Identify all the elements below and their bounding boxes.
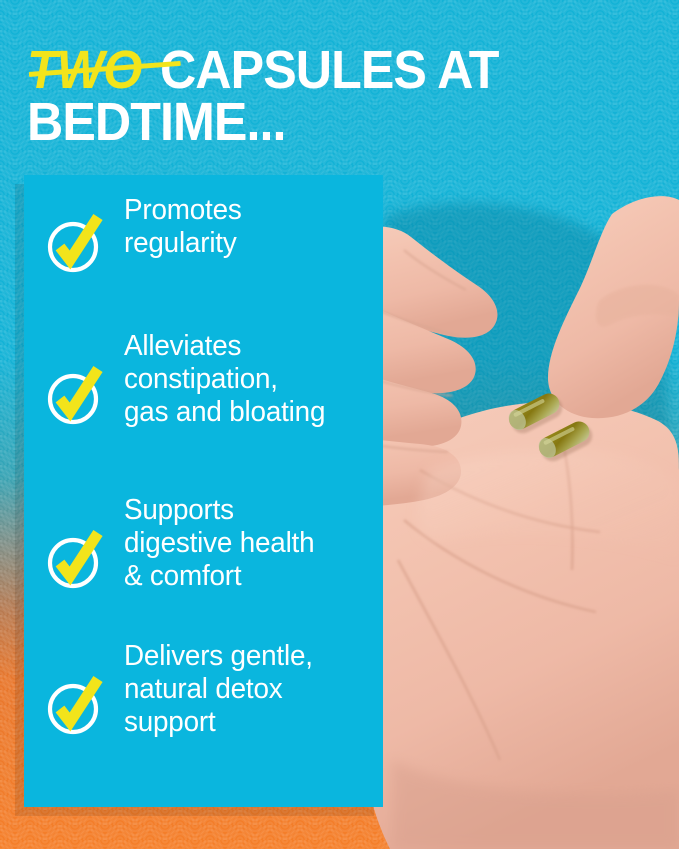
list-item: Promotes regularity [46,192,404,274]
page-title: TWO CAPSULES AT BEDTIME... [27,44,622,148]
check-circle-icon [46,368,104,426]
check-circle-icon [46,678,104,736]
list-item-label: Delivers gentle, natural detox support [124,638,313,739]
list-item: Delivers gentle, natural detox support [46,638,404,739]
list-item-label: Alleviates constipation, gas and bloatin… [124,328,325,429]
promo-poster: TWO CAPSULES AT BEDTIME... Promotes regu… [0,0,679,849]
list-item-label: Supports digestive health & comfort [124,492,314,593]
check-circle-icon [46,216,104,274]
list-item: Alleviates constipation, gas and bloatin… [46,328,404,429]
list-item: Supports digestive health & comfort [46,492,404,593]
benefits-list: Promotes regularity Alleviates constipat… [24,175,404,807]
list-item-label: Promotes regularity [124,192,242,260]
check-circle-icon [46,532,104,590]
